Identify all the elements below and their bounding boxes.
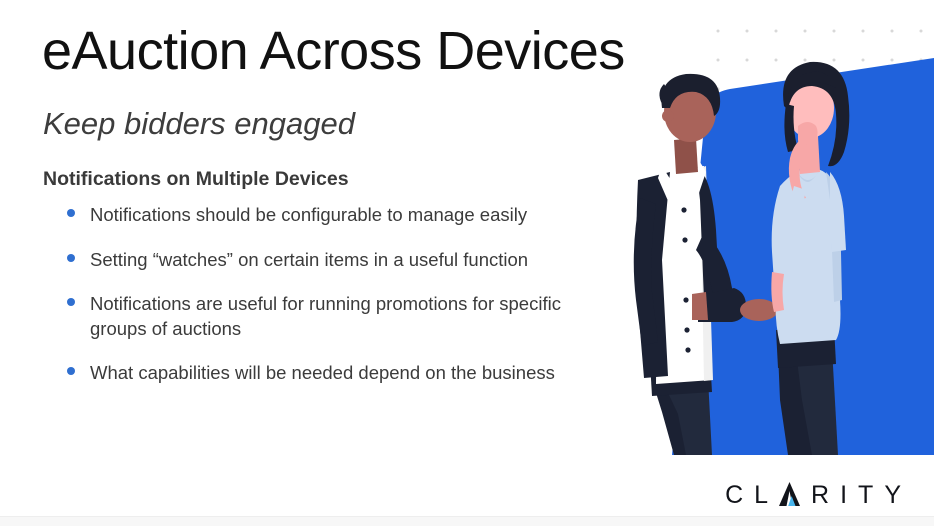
list-item-text: Notifications should be configurable to …	[90, 204, 527, 225]
section-heading: Notifications on Multiple Devices	[43, 168, 349, 191]
page-title: eAuction Across Devices	[42, 20, 625, 82]
logo-text-part1: CL	[725, 483, 779, 508]
logo-a-mark-icon	[779, 483, 800, 508]
list-item-text: Setting “watches” on certain items in a …	[90, 249, 528, 270]
slide-subtitle: Keep bidders engaged	[43, 105, 355, 142]
bullet-dot-icon	[67, 367, 75, 375]
list-item: Notifications are useful for running pro…	[42, 292, 602, 341]
list-item: Setting “watches” on certain items in a …	[42, 248, 602, 273]
illustration-graphic	[600, 0, 934, 460]
bullet-dot-icon	[67, 254, 75, 262]
list-item: What capabilities will be needed depend …	[42, 361, 602, 386]
list-item: Notifications should be configurable to …	[42, 203, 602, 228]
list-item-text: Notifications are useful for running pro…	[90, 293, 561, 339]
bullet-dot-icon	[67, 298, 75, 306]
presentation-slide: eAuction Across Devices Keep bidders eng…	[0, 0, 934, 526]
bullet-list: Notifications should be configurable to …	[42, 203, 602, 406]
bottom-strip	[0, 516, 934, 526]
list-item-text: What capabilities will be needed depend …	[90, 362, 555, 383]
bullet-dot-icon	[67, 209, 75, 217]
clarity-logo: CL RITY	[725, 483, 912, 508]
logo-text-part2: RITY	[811, 483, 912, 508]
